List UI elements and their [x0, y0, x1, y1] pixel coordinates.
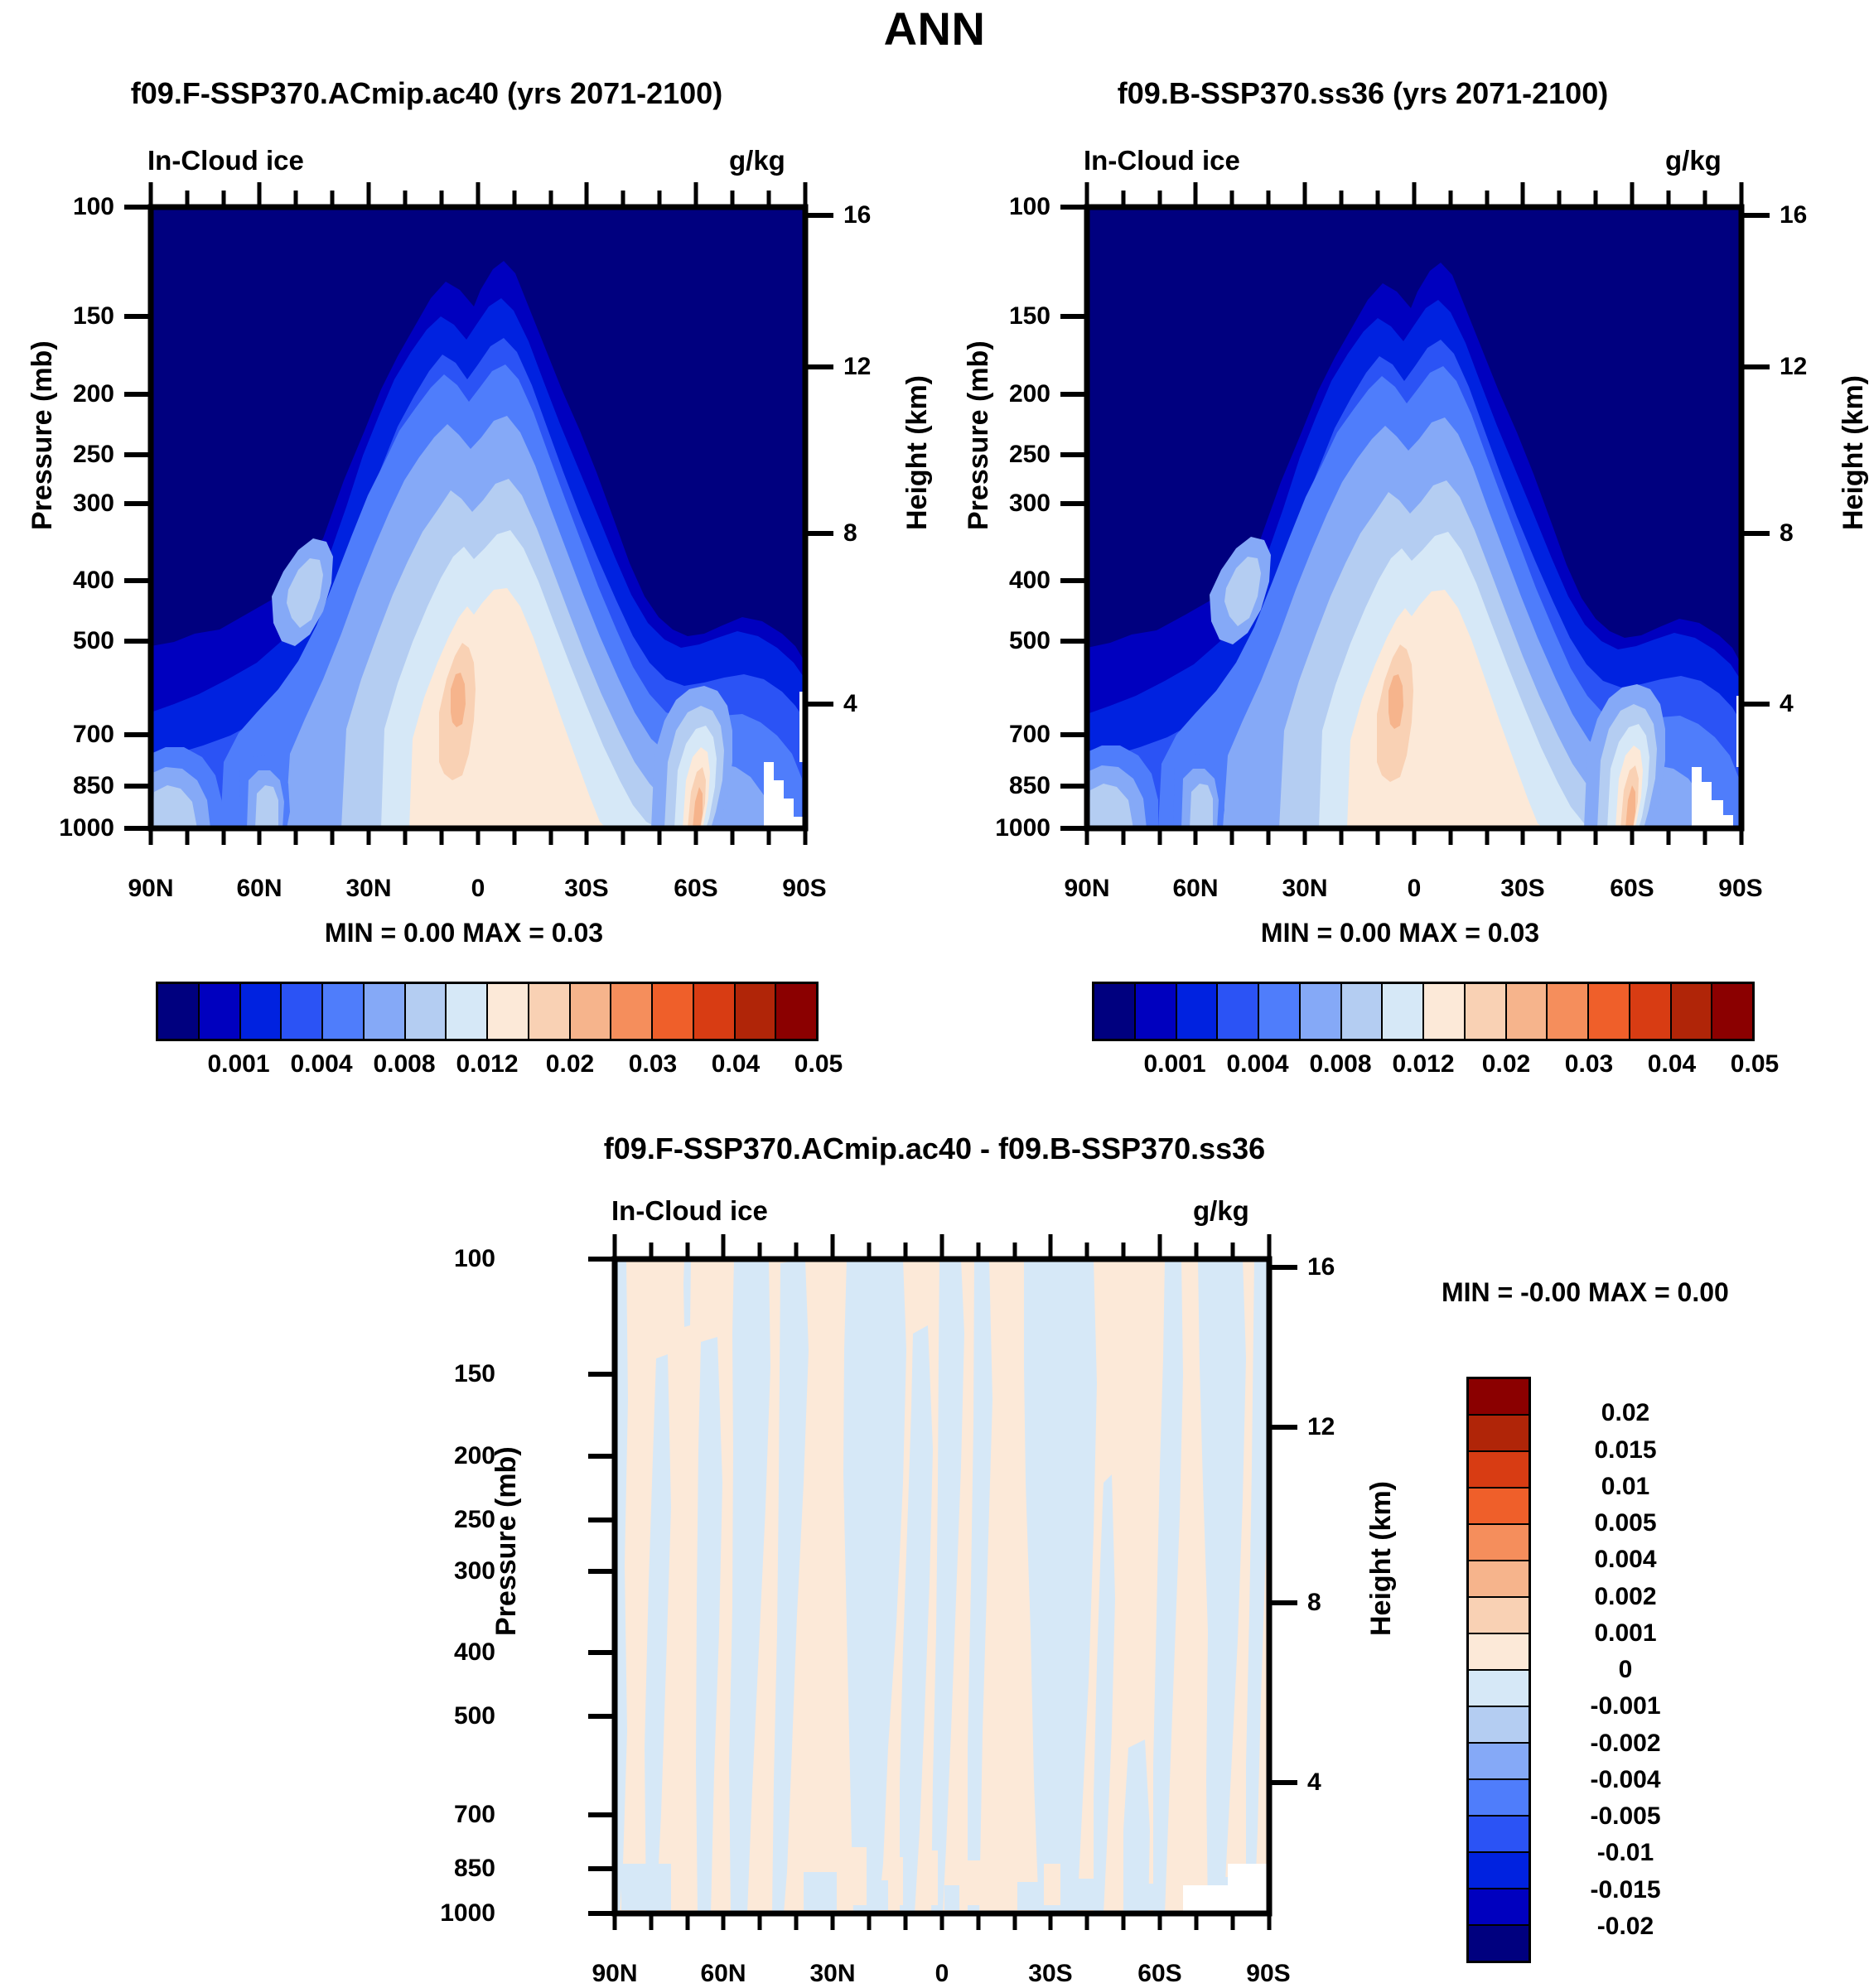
- colorbar-label-6: 0.04: [1648, 1050, 1696, 1078]
- panel-diff-contours: [615, 1259, 1269, 1913]
- panel-diff-ytick-850: 850: [424, 1855, 495, 1883]
- colorbar-cell-14: [1672, 984, 1713, 1039]
- colorbar-cell-3: [282, 984, 323, 1039]
- panel-diff-top-ticks: [615, 1234, 1269, 1259]
- colorbar-label-4: 0.02: [546, 1050, 594, 1078]
- diff-colorbar-label-12: -0.01: [1543, 1839, 1708, 1867]
- colorbar-cell-11: [611, 984, 653, 1039]
- diff-colorbar-label-3: 0.005: [1543, 1509, 1708, 1537]
- panel-diff-xtick-60S: 60S: [1110, 1960, 1210, 1988]
- diff-colorbar-label-9: -0.002: [1543, 1730, 1708, 1758]
- panel-diff-xtick-90S: 90S: [1219, 1960, 1318, 1988]
- colorbar-cell-0: [1094, 984, 1136, 1039]
- diff-colorbar-label-5: 0.002: [1543, 1583, 1708, 1611]
- panel-a-xtick-60N: 60N: [210, 875, 309, 903]
- diff-colorbar-label-1: 0.015: [1543, 1436, 1708, 1464]
- diff-colorbar-cell-13: [1469, 1853, 1529, 1889]
- colorbar-label-2: 0.008: [373, 1050, 435, 1078]
- panel-diff-ytick-500: 500: [424, 1702, 495, 1730]
- panel-diff-left-ticks: [588, 1259, 615, 1913]
- colorbar-label-5: 0.03: [629, 1050, 677, 1078]
- panel-a-plot: [50, 182, 928, 845]
- panel-b-y2tick-12: 12: [1780, 353, 1807, 381]
- panel-a-y2tick-12: 12: [843, 353, 871, 381]
- diff-colorbar-cell-10: [1469, 1744, 1529, 1780]
- panel-b-xtick-90N: 90N: [1037, 875, 1137, 903]
- panel-a-xtick-60S: 60S: [646, 875, 746, 903]
- colorbar-cell-9: [1466, 984, 1507, 1039]
- panel-a-ytick-700: 700: [43, 721, 114, 749]
- panel-a-xtick-0: 0: [428, 875, 528, 903]
- panel-b-ytick-250: 250: [979, 441, 1050, 469]
- panel-diff-y2tick-12: 12: [1307, 1413, 1335, 1441]
- panel-b-ytick-500: 500: [979, 627, 1050, 655]
- panel-diff-colorbar-labels: 0.020.0150.010.0050.0040.0020.0010-0.001…: [1543, 1377, 1725, 1963]
- panel-b-y2tick-16: 16: [1780, 201, 1807, 229]
- diff-colorbar-cell-15: [1469, 1926, 1529, 1961]
- colorbar-cell-7: [1383, 984, 1424, 1039]
- colorbar-label-3: 0.012: [456, 1050, 518, 1078]
- panel-diff-colorbar[interactable]: [1466, 1377, 1531, 1963]
- colorbar-cell-9: [529, 984, 571, 1039]
- panel-b-plot: [986, 182, 1864, 845]
- panel-a-xtick-30S: 30S: [537, 875, 636, 903]
- colorbar-cell-4: [1259, 984, 1301, 1039]
- panel-b-ytick-850: 850: [979, 772, 1050, 800]
- colorbar-cell-0: [158, 984, 200, 1039]
- diff-colorbar-label-7: 0: [1543, 1656, 1708, 1684]
- panel-b-minmax: MIN = 0.00 MAX = 0.03: [986, 918, 1814, 948]
- colorbar-cell-13: [1630, 984, 1672, 1039]
- panel-a-contours: [151, 207, 805, 828]
- panel-diff-xtick-30N: 30N: [783, 1960, 882, 1988]
- colorbar-cell-15: [776, 984, 816, 1039]
- diff-colorbar-cell-1: [1469, 1416, 1529, 1452]
- diff-colorbar-label-2: 0.01: [1543, 1473, 1708, 1501]
- diff-colorbar-label-4: 0.004: [1543, 1546, 1708, 1574]
- diff-colorbar-label-8: -0.001: [1543, 1692, 1708, 1720]
- colorbar-label-6: 0.04: [712, 1050, 760, 1078]
- colorbar-cell-6: [1342, 984, 1384, 1039]
- diff-colorbar-label-0: 0.02: [1543, 1399, 1708, 1427]
- panel-b-xtick-90S: 90S: [1691, 875, 1790, 903]
- panel-diff-title: f09.F-SSP370.ACmip.ac40 - f09.B-SSP370.s…: [437, 1132, 1432, 1166]
- colorbar-label-0: 0.001: [207, 1050, 269, 1078]
- panel-a-y2tick-4: 4: [843, 690, 857, 718]
- panel-a-variable-label: In-Cloud ice: [147, 145, 304, 176]
- diff-colorbar-cell-11: [1469, 1780, 1529, 1817]
- colorbar-cell-8: [1424, 984, 1466, 1039]
- panel-b-xtick-60S: 60S: [1582, 875, 1682, 903]
- panel-diff-ytick-150: 150: [424, 1360, 495, 1388]
- panel-a-top-ticks: [151, 182, 805, 207]
- diff-colorbar-label-13: -0.015: [1543, 1876, 1708, 1904]
- panel-a-ytick-1000: 1000: [27, 814, 114, 842]
- diff-colorbar-cell-4: [1469, 1525, 1529, 1561]
- panel-diff-xtick-0: 0: [892, 1960, 992, 1988]
- panel-a-y2tick-8: 8: [843, 519, 857, 548]
- panel-a-colorbar-labels: 0.0010.0040.0080.0120.020.030.040.05: [156, 1050, 819, 1087]
- panel-b-xtick-30N: 30N: [1255, 875, 1355, 903]
- panel-diff-xtick-90N: 90N: [565, 1960, 664, 1988]
- panel-b-ytick-1000: 1000: [963, 814, 1050, 842]
- panel-b-ytick-100: 100: [979, 193, 1050, 221]
- colorbar-label-1: 0.004: [1226, 1050, 1288, 1078]
- colorbar-cell-5: [1301, 984, 1342, 1039]
- panel-b-xtick-0: 0: [1364, 875, 1464, 903]
- colorbar-cell-10: [1507, 984, 1548, 1039]
- panel-diff-ytick-200: 200: [424, 1442, 495, 1470]
- panel-diff-ytick-700: 700: [424, 1801, 495, 1829]
- diff-colorbar-cell-14: [1469, 1889, 1529, 1926]
- panel-a-unit-label: g/kg: [729, 145, 785, 176]
- diff-colorbar-cell-6: [1469, 1598, 1529, 1634]
- panel-a-ytick-250: 250: [43, 441, 114, 469]
- panel-b-xtick-60N: 60N: [1146, 875, 1245, 903]
- diff-colorbar-cell-5: [1469, 1561, 1529, 1598]
- panel-a-xtick-30N: 30N: [319, 875, 418, 903]
- panel-b-variable-label: In-Cloud ice: [1084, 145, 1240, 176]
- colorbar-cell-13: [694, 984, 736, 1039]
- diff-colorbar-label-11: -0.005: [1543, 1802, 1708, 1831]
- panel-diff-ytick-400: 400: [424, 1638, 495, 1667]
- colorbar-cell-11: [1548, 984, 1589, 1039]
- colorbar-label-3: 0.012: [1392, 1050, 1454, 1078]
- panel-diff-xtick-60N: 60N: [674, 1960, 773, 1988]
- panel-a-ytick-100: 100: [43, 193, 114, 221]
- panel-a-left-ticks: [124, 207, 151, 828]
- diff-colorbar-cell-3: [1469, 1489, 1529, 1525]
- panel-a-minmax: MIN = 0.00 MAX = 0.03: [50, 918, 878, 948]
- figure-root: ANN f09.F-SSP370.ACmip.ac40 (yrs 2071-21…: [0, 0, 1869, 1974]
- panel-b-ytick-700: 700: [979, 721, 1050, 749]
- diff-colorbar-label-14: -0.02: [1543, 1913, 1708, 1941]
- panel-diff-plot: [514, 1234, 1392, 1930]
- panel-b-y2tick-8: 8: [1780, 519, 1794, 548]
- panel-b-ytick-150: 150: [979, 302, 1050, 331]
- panel-a-ytick-500: 500: [43, 627, 114, 655]
- colorbar-cell-8: [488, 984, 529, 1039]
- colorbar-cell-10: [571, 984, 612, 1039]
- panel-a-right-ticks: [805, 215, 833, 704]
- panel-a-ytick-200: 200: [43, 380, 114, 408]
- panel-diff-ytick-100: 100: [424, 1245, 495, 1273]
- panel-b-left-ticks: [1060, 207, 1087, 828]
- panel-b-y2tick-4: 4: [1780, 690, 1794, 718]
- diff-colorbar-cell-9: [1469, 1707, 1529, 1744]
- main-title: ANN: [0, 2, 1869, 55]
- panel-diff-ytick-250: 250: [424, 1506, 495, 1534]
- panel-diff-right-ticks: [1269, 1267, 1297, 1783]
- panel-b-ytick-200: 200: [979, 380, 1050, 408]
- colorbar-label-5: 0.03: [1565, 1050, 1613, 1078]
- panel-a-ytick-850: 850: [43, 772, 114, 800]
- panel-b-colorbar[interactable]: [1092, 982, 1755, 1041]
- panel-diff-variable-label: In-Cloud ice: [611, 1195, 768, 1227]
- panel-a-ytick-400: 400: [43, 567, 114, 595]
- panel-a-ytick-300: 300: [43, 490, 114, 518]
- colorbar-cell-1: [200, 984, 241, 1039]
- panel-b-contours: [1087, 207, 1741, 828]
- diff-colorbar-cell-2: [1469, 1452, 1529, 1489]
- panel-b-ytick-300: 300: [979, 490, 1050, 518]
- panel-b-top-ticks: [1087, 182, 1741, 207]
- panel-a-colorbar[interactable]: [156, 982, 819, 1041]
- panel-diff-y2tick-4: 4: [1307, 1768, 1321, 1797]
- colorbar-cell-3: [1218, 984, 1259, 1039]
- diff-colorbar-label-6: 0.001: [1543, 1619, 1708, 1648]
- panel-diff-unit-label: g/kg: [1193, 1195, 1249, 1227]
- panel-b-right-ticks: [1741, 215, 1770, 704]
- panel-a-y2tick-16: 16: [843, 201, 871, 229]
- colorbar-cell-2: [1177, 984, 1219, 1039]
- panel-diff-y2tick-16: 16: [1307, 1253, 1335, 1281]
- colorbar-label-2: 0.008: [1309, 1050, 1371, 1078]
- diff-colorbar-cell-7: [1469, 1634, 1529, 1671]
- colorbar-cell-15: [1712, 984, 1752, 1039]
- panel-diff-minmax: MIN = -0.00 MAX = 0.00: [1442, 1277, 1729, 1308]
- panel-b-unit-label: g/kg: [1665, 145, 1722, 176]
- diff-colorbar-label-10: -0.004: [1543, 1766, 1708, 1794]
- diff-colorbar-cell-12: [1469, 1817, 1529, 1853]
- colorbar-cell-12: [1589, 984, 1630, 1039]
- colorbar-cell-12: [653, 984, 694, 1039]
- panel-b-ytick-400: 400: [979, 567, 1050, 595]
- panel-diff-xtick-30S: 30S: [1001, 1960, 1100, 1988]
- panel-diff-y2tick-8: 8: [1307, 1589, 1321, 1617]
- colorbar-label-4: 0.02: [1482, 1050, 1530, 1078]
- diff-colorbar-cell-0: [1469, 1379, 1529, 1416]
- colorbar-cell-14: [736, 984, 777, 1039]
- panel-b-xtick-30S: 30S: [1473, 875, 1572, 903]
- colorbar-label-7: 0.05: [1731, 1050, 1779, 1078]
- colorbar-label-1: 0.004: [290, 1050, 352, 1078]
- panel-a-title: f09.F-SSP370.ACmip.ac40 (yrs 2071-2100): [50, 76, 804, 111]
- panel-b-title: f09.B-SSP370.ss36 (yrs 2071-2100): [986, 76, 1740, 111]
- panel-diff-ytick-1000: 1000: [408, 1899, 495, 1928]
- diff-colorbar-cell-8: [1469, 1671, 1529, 1707]
- panel-b-colorbar-labels: 0.0010.0040.0080.0120.020.030.040.05: [1092, 1050, 1755, 1087]
- panel-a-xtick-90N: 90N: [101, 875, 200, 903]
- colorbar-cell-7: [447, 984, 488, 1039]
- colorbar-cell-5: [365, 984, 406, 1039]
- colorbar-label-0: 0.001: [1143, 1050, 1205, 1078]
- colorbar-cell-6: [406, 984, 447, 1039]
- colorbar-cell-4: [323, 984, 365, 1039]
- panel-diff-ytick-300: 300: [424, 1557, 495, 1585]
- panel-a-xtick-90S: 90S: [755, 875, 854, 903]
- panel-a-ytick-150: 150: [43, 302, 114, 331]
- colorbar-cell-1: [1136, 984, 1177, 1039]
- colorbar-cell-2: [241, 984, 283, 1039]
- colorbar-label-7: 0.05: [794, 1050, 843, 1078]
